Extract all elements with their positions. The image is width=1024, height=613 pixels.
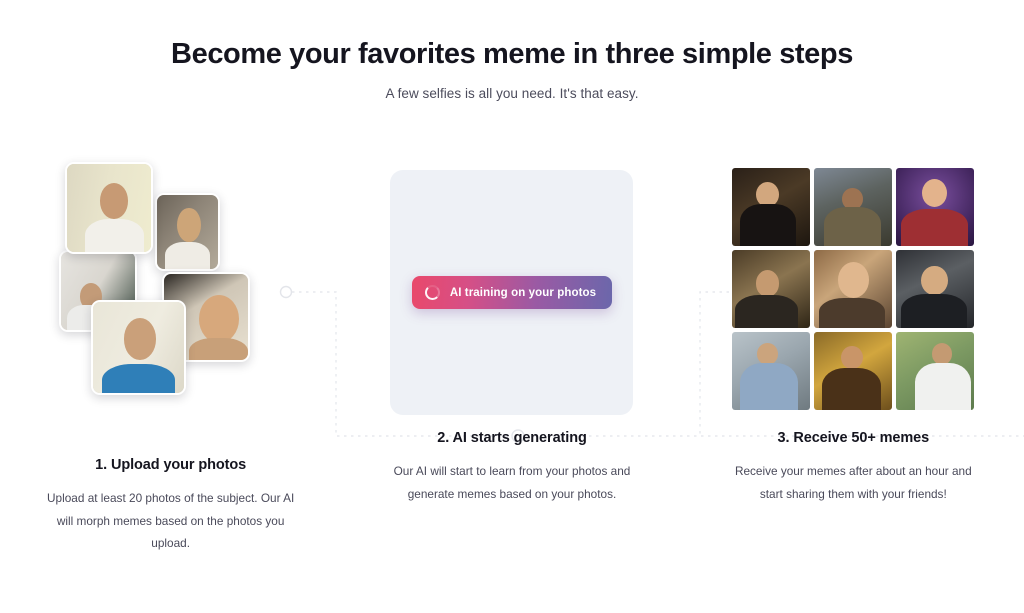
meme-tile-9[interactable]: [896, 332, 974, 410]
step-title-2: 2. AI starts generating: [341, 430, 682, 446]
section-header: Become your favorites meme in three simp…: [0, 0, 1024, 101]
step-description-3: Receive your memes after about an hour a…: [728, 460, 978, 505]
collage-photo-2[interactable]: [155, 193, 220, 271]
step-title-1: 1. Upload your photos: [0, 457, 341, 473]
meme-tile-5[interactable]: [814, 250, 892, 328]
step-description-2: Our AI will start to learn from your pho…: [387, 460, 637, 505]
step-caption-1: 1. Upload your photos Upload at least 20…: [0, 457, 341, 555]
meme-results-visual: [683, 150, 1024, 412]
step-column-1: 1. Upload your photos Upload at least 20…: [0, 150, 341, 555]
loading-spinner-icon: [425, 285, 440, 300]
meme-tile-6[interactable]: [896, 250, 974, 328]
step-caption-3: 3. Receive 50+ memes Receive your memes …: [683, 430, 1024, 505]
collage-photo-5[interactable]: [91, 300, 186, 395]
ai-training-badge[interactable]: AI training on your photos: [412, 276, 612, 309]
meme-tile-4[interactable]: [732, 250, 810, 328]
step-title-3: 3. Receive 50+ memes: [683, 430, 1024, 446]
step-column-3: 3. Receive 50+ memes Receive your memes …: [683, 150, 1024, 555]
meme-tile-3[interactable]: [896, 168, 974, 246]
meme-grid: [732, 168, 974, 410]
meme-tile-2[interactable]: [814, 168, 892, 246]
meme-tile-8[interactable]: [814, 332, 892, 410]
collage-photo-1[interactable]: [65, 162, 153, 254]
ai-training-panel: AI training on your photos: [390, 170, 633, 415]
ai-training-visual: AI training on your photos: [341, 150, 682, 412]
steps-container: 1. Upload your photos Upload at least 20…: [0, 150, 1024, 555]
step-column-2: AI training on your photos 2. AI starts …: [341, 150, 682, 555]
meme-tile-1[interactable]: [732, 168, 810, 246]
meme-tile-7[interactable]: [732, 332, 810, 410]
page-title: Become your favorites meme in three simp…: [0, 36, 1024, 72]
step-caption-2: 2. AI starts generating Our AI will star…: [341, 430, 682, 505]
step-description-1: Upload at least 20 photos of the subject…: [46, 487, 296, 555]
ai-training-badge-label: AI training on your photos: [450, 287, 596, 299]
upload-photos-visual: [0, 150, 341, 412]
photo-collage: [59, 150, 289, 400]
page-subtitle: A few selfies is all you need. It's that…: [0, 86, 1024, 101]
